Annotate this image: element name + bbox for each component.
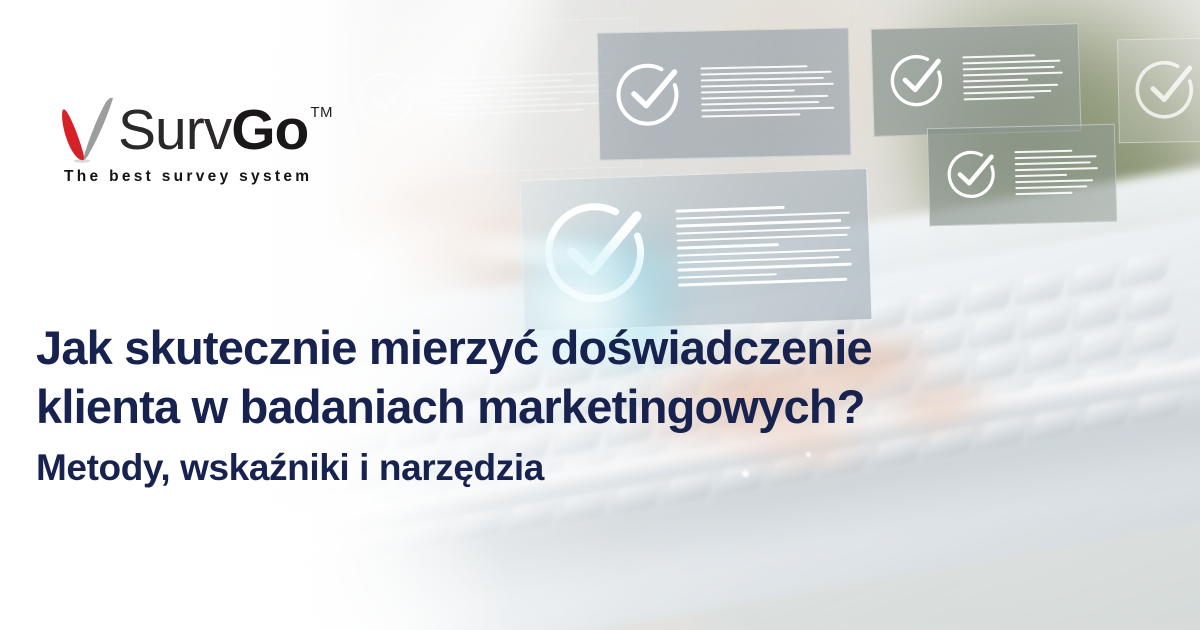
v-checkmark-logo-icon <box>56 96 116 164</box>
logo-word-go: Go <box>231 98 308 162</box>
logo-word-surv: Surv <box>118 98 231 162</box>
logo-wordmark: SurvGo <box>118 102 308 159</box>
cover-copy: Jak skutecznie mierzyć doświadczenie kli… <box>36 318 1036 491</box>
subheadline: Metody, wskaźniki i narzędzia <box>36 446 1036 490</box>
trademark-symbol: TM <box>310 104 333 121</box>
logo-tagline: The best survey system <box>64 168 333 186</box>
headline-line-2: klienta w badaniach marketingowych? <box>36 377 1036 436</box>
blog-cover-banner: SurvGo TM The best survey system Jak sku… <box>0 0 1200 630</box>
survgo-logo[interactable]: SurvGo TM The best survey system <box>56 96 333 186</box>
headline-line-1: Jak skutecznie mierzyć doświadczenie <box>36 318 1036 377</box>
white-fade-overall <box>0 0 1200 630</box>
logo-row: SurvGo TM <box>56 96 333 164</box>
